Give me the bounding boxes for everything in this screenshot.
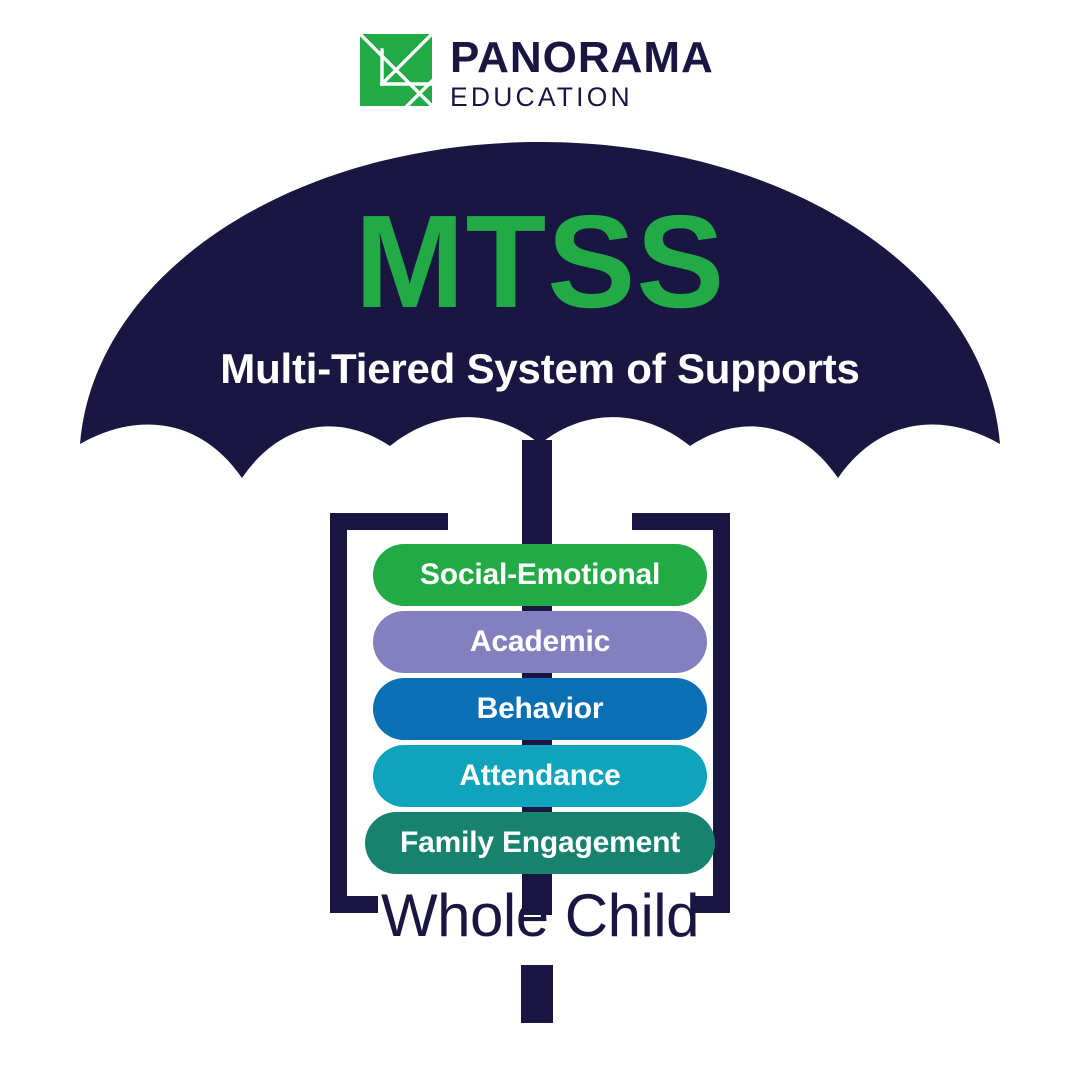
umbrella-shaft-tip (521, 965, 553, 1023)
page-subtitle: Multi-Tiered System of Supports (0, 348, 1080, 390)
domain-pill-label: Academic (470, 625, 610, 659)
domain-pill[interactable]: Behavior (373, 678, 707, 740)
domain-pill-label: Family Engagement (400, 826, 680, 860)
domain-pill[interactable]: Attendance (373, 745, 707, 807)
domain-pill-stack: Social-EmotionalAcademicBehaviorAttendan… (0, 544, 1080, 874)
domain-pill-label: Behavior (477, 692, 604, 726)
page-title: MTSS (0, 196, 1080, 328)
domain-pill-label: Social-Emotional (420, 558, 660, 592)
domain-pill[interactable]: Family Engagement (365, 812, 715, 874)
domain-pill[interactable]: Academic (373, 611, 707, 673)
whole-child-label: Whole Child (0, 884, 1080, 947)
domain-pill-label: Attendance (459, 759, 620, 793)
domain-pill[interactable]: Social-Emotional (373, 544, 707, 606)
infographic-canvas: PANORAMA EDUCATION MTSS Multi-Tiered Sys… (0, 0, 1080, 1080)
